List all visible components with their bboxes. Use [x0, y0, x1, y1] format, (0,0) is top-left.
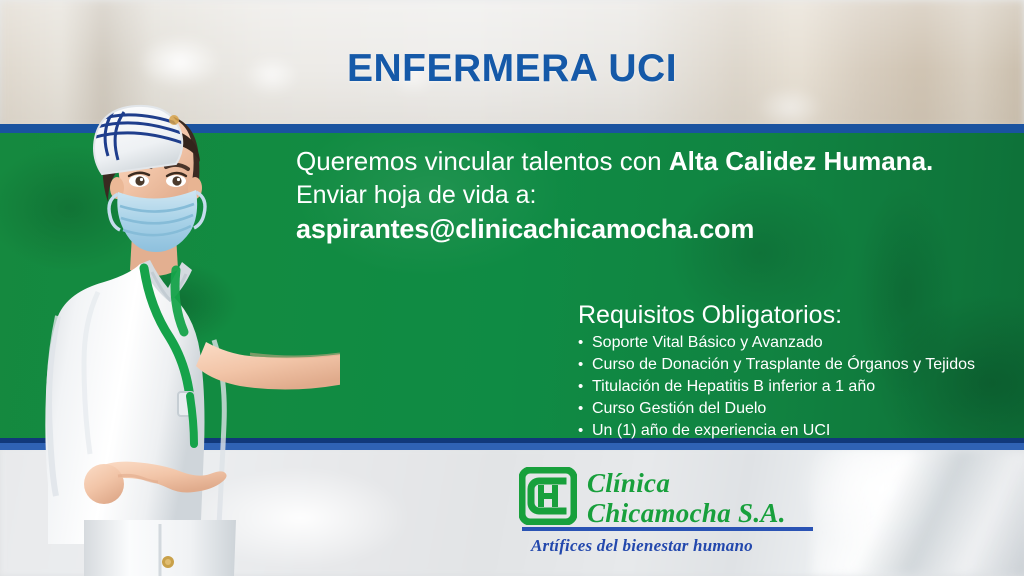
list-item: Un (1) año de experiencia en UCI — [578, 420, 1018, 442]
requirements-block: Requisitos Obligatorios: Soporte Vital B… — [578, 300, 1018, 442]
requirements-list: Soporte Vital Básico y Avanzado Curso de… — [578, 332, 1018, 442]
logo-divider — [522, 527, 813, 531]
clinic-logo: Clínica Chicamocha S.A. Artífices del bi… — [519, 465, 819, 565]
list-item: Soporte Vital Básico y Avanzado — [578, 332, 1018, 354]
recruitment-poster: ENFERMERA UCI Queremos vincular talentos… — [0, 0, 1024, 576]
list-item: Curso de Donación y Trasplante de Órgano… — [578, 354, 1018, 376]
headline-line-2: Enviar hoja de vida a: — [296, 179, 1016, 211]
clinic-logo-mark-icon — [519, 467, 577, 525]
clinic-tagline: Artífices del bienestar humano — [531, 535, 821, 557]
headline-line-1: Queremos vincular talentos con Alta Cali… — [296, 145, 1016, 177]
bottom-corridor-rail — [812, 450, 1024, 576]
list-item: Titulación de Hepatitis B inferior a 1 a… — [578, 376, 1018, 398]
contact-email[interactable]: aspirantes@clinicachicamocha.com — [296, 212, 1016, 246]
requirements-heading: Requisitos Obligatorios: — [578, 300, 1018, 330]
headline-strong: Alta Calidez Humana. — [669, 146, 933, 176]
clinic-name-line-2: Chicamocha S.A. — [587, 498, 827, 528]
clinic-logo-wordmark: Clínica Chicamocha S.A. — [587, 469, 827, 528]
headline-prefix: Queremos vincular talentos con — [296, 146, 669, 176]
list-item: Curso Gestión del Duelo — [578, 398, 1018, 420]
nurse-figure — [0, 96, 340, 576]
nurse-illustration — [0, 96, 340, 576]
headline-block: Queremos vincular talentos con Alta Cali… — [296, 145, 1016, 246]
page-title: ENFERMERA UCI — [0, 47, 1024, 91]
clinic-name-line-1: Clínica — [587, 469, 827, 498]
